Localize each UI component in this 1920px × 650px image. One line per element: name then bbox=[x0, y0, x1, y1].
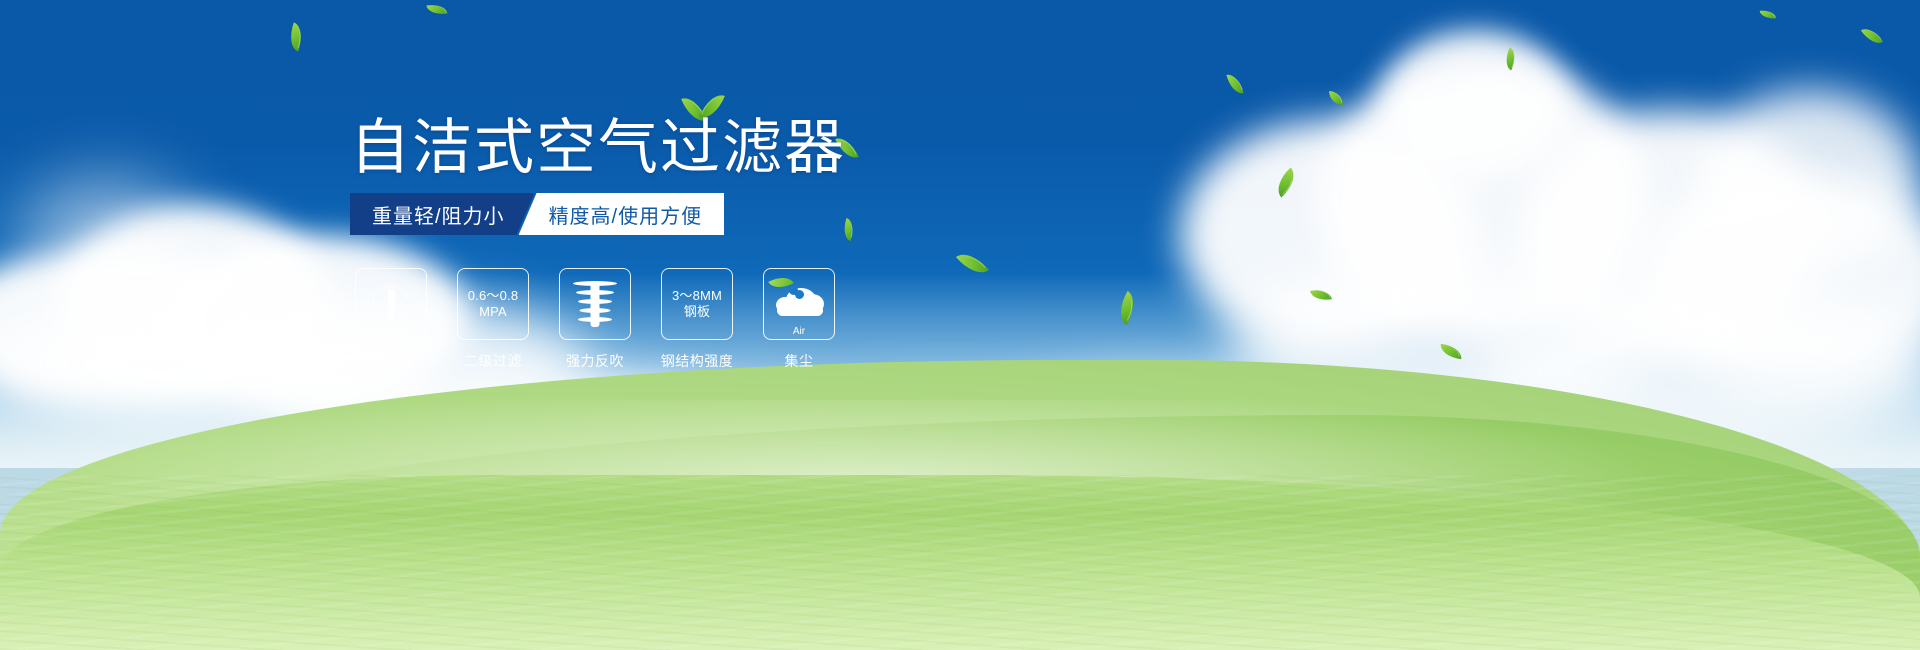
feature-item-two-stage-filter: 0.6～0.8 MPA 二级过滤 bbox=[457, 268, 529, 371]
feature-item-steel-strength: 3～8MM 钢板 钢结构强度 bbox=[661, 268, 733, 371]
feature-box-steel: 3～8MM 钢板 bbox=[661, 268, 733, 340]
banner-content: 自洁式空气过滤器 重量轻/阻力小 精度高/使用方便 NO OFF 控制仪 bbox=[0, 0, 1920, 650]
dial-label-off: OFF bbox=[410, 323, 423, 329]
product-hero-banner: 自洁式空气过滤器 重量轻/阻力小 精度高/使用方便 NO OFF 控制仪 bbox=[0, 0, 1920, 650]
pressure-unit: MPA bbox=[479, 304, 507, 320]
feature-item-dust-collection: Air 集尘 bbox=[763, 268, 835, 371]
air-cloud-icon: Air bbox=[772, 284, 826, 324]
steel-material: 钢板 bbox=[684, 304, 710, 320]
filter-stack-icon bbox=[570, 279, 620, 329]
cloud-cutout bbox=[789, 286, 798, 295]
feature-box-controller: NO OFF bbox=[355, 268, 427, 340]
tagline-badges: 重量轻/阻力小 精度高/使用方便 bbox=[350, 193, 724, 235]
dial-icon: NO OFF bbox=[363, 276, 419, 332]
cloud-base bbox=[777, 305, 823, 316]
feature-caption-two-stage-filter: 二级过滤 bbox=[464, 351, 522, 371]
feature-box-pressure: 0.6～0.8 MPA bbox=[457, 268, 529, 340]
feature-caption-controller: 控制仪 bbox=[369, 351, 413, 371]
feature-item-backblow: 强力反吹 bbox=[559, 268, 631, 371]
feature-caption-dust-collection: 集尘 bbox=[785, 351, 814, 371]
air-label: Air bbox=[772, 326, 826, 337]
feature-box-backblow bbox=[559, 268, 631, 340]
stack-core bbox=[591, 281, 600, 327]
feature-icon-row: NO OFF 控制仪 0.6～0.8 MPA 二级过滤 bbox=[355, 268, 835, 371]
steel-thickness: 3～8MM bbox=[672, 288, 722, 304]
feature-caption-steel-strength: 钢结构强度 bbox=[661, 351, 734, 371]
feature-box-dust: Air bbox=[763, 268, 835, 340]
dial-label-no: NO bbox=[360, 302, 370, 308]
page-title: 自洁式空气过滤器 bbox=[350, 118, 846, 178]
feature-caption-backblow: 强力反吹 bbox=[566, 351, 624, 371]
feature-item-controller: NO OFF 控制仪 bbox=[355, 268, 427, 371]
badge-lightweight-lowresistance: 重量轻/阻力小 bbox=[350, 193, 535, 235]
pressure-value: 0.6～0.8 bbox=[468, 288, 519, 304]
dial-needle-icon bbox=[388, 289, 395, 320]
badge-highprecision-easyuse: 精度高/使用方便 bbox=[519, 193, 725, 235]
